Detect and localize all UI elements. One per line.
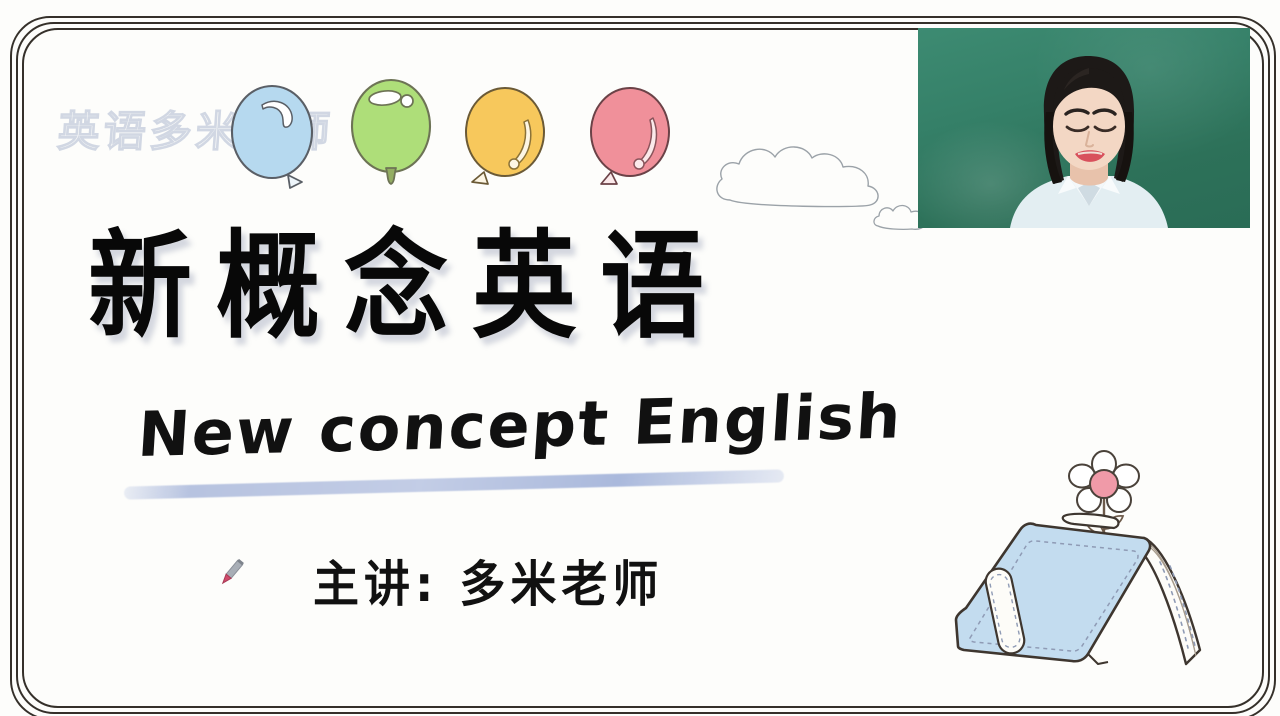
presenter-label: 主讲: 多米老师 [313,546,663,616]
presenter-webcam[interactable] [918,28,1250,228]
page-subtitle-english: New concept English [136,379,905,471]
pencil-icon [214,556,248,595]
open-book-icon [948,450,1208,685]
subtitle-underline [124,469,784,499]
presenter-avatar [918,28,1250,228]
green-balloon [348,74,438,192]
blue-balloon [228,82,320,194]
page-title-chinese: 新概念英语 [88,218,868,355]
pink-balloon [587,84,677,196]
slide-canvas: 英语多米老师 [0,0,1280,716]
cloud-icon-large [712,138,887,218]
yellow-balloon [462,84,552,196]
